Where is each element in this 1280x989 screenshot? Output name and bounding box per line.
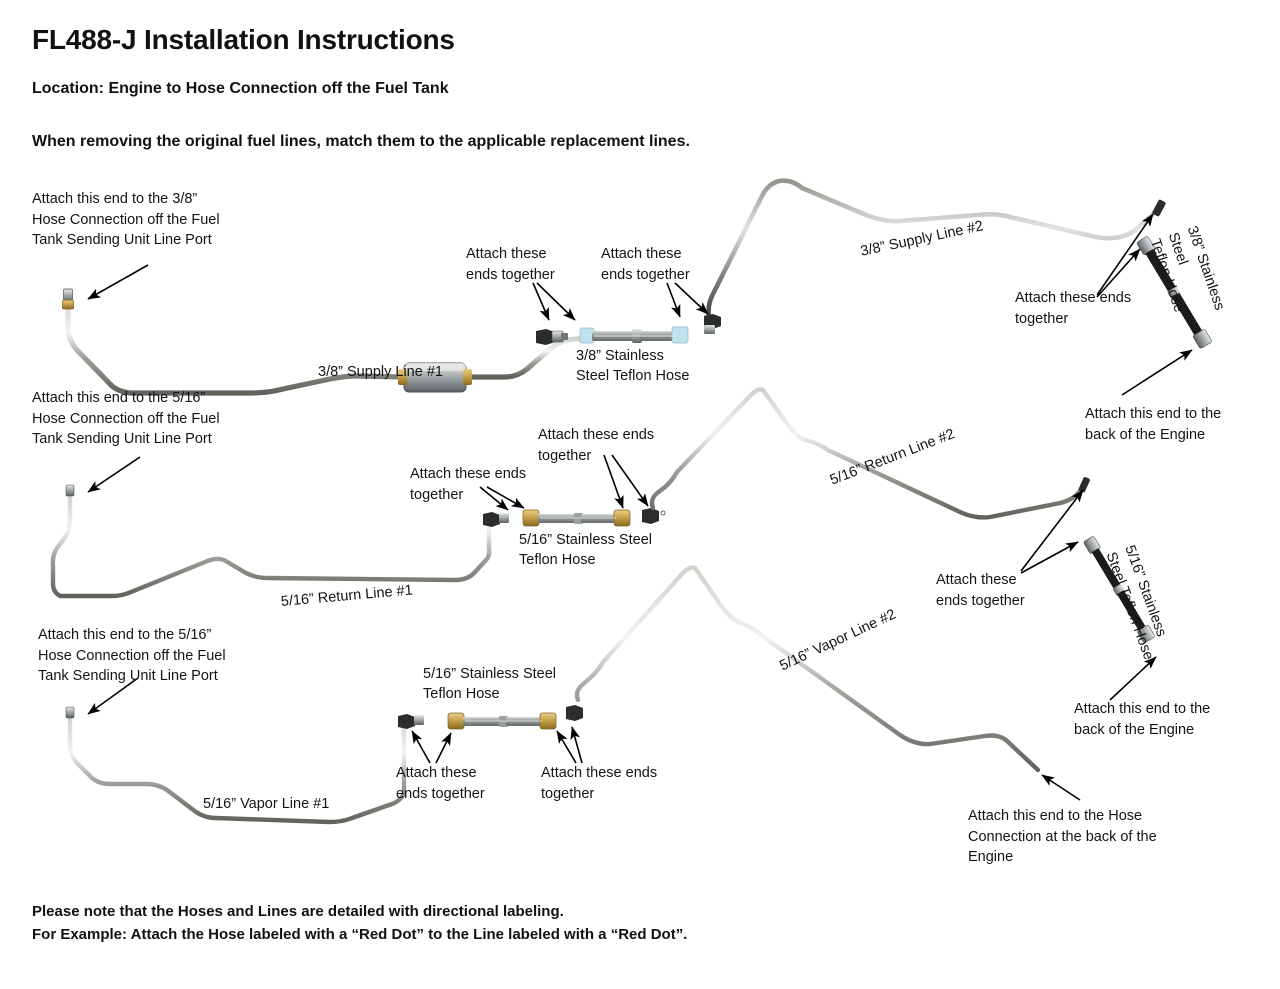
vapor-line-2-end-fitting xyxy=(566,705,583,721)
annotation-return-join-a: Attach these ends together xyxy=(410,464,526,505)
label-supply-line-1: 3/8” Supply Line #1 xyxy=(318,363,443,383)
annotation-vapor-engine-end: Attach this end to the Hose Connection a… xyxy=(968,806,1157,868)
label-return-hose-left: 5/16” Stainless Steel Teflon Hose xyxy=(519,531,652,570)
vapor-teflon-hose-left xyxy=(448,713,556,729)
return-teflon-hose-left xyxy=(523,510,630,526)
annotation-vapor-join-a: Attach these ends together xyxy=(396,763,485,804)
supply-line-2-hose-end xyxy=(1152,199,1167,217)
annotation-return-tank-end: Attach this end to the 5/16” Hose Connec… xyxy=(32,388,220,450)
annotation-supply-engine-end: Attach this end to the back of the Engin… xyxy=(1085,404,1221,445)
return-line-2-end-fitting xyxy=(642,508,665,524)
label-vapor-line-1: 5/16” Vapor Line #1 xyxy=(203,795,329,815)
return-line-2-tube xyxy=(652,390,1085,518)
annotation-return-join-b: Attach these ends together xyxy=(538,425,654,466)
annotation-return-join-right: Attach these ends together xyxy=(936,570,1025,611)
annotation-return-engine-end: Attach this end to the back of the Engin… xyxy=(1074,699,1210,740)
label-vapor-hose-left: 5/16” Stainless Steel Teflon Hose xyxy=(423,665,556,704)
supply-line-1-tank-fitting xyxy=(63,289,74,309)
footer-line-2: For Example: Attach the Hose labeled wit… xyxy=(32,923,687,946)
footer-note: Please note that the Hoses and Lines are… xyxy=(32,900,687,947)
annotation-supply-join-a: Attach these ends together xyxy=(466,244,555,285)
return-line-1-tube xyxy=(53,494,489,596)
annotation-supply-tank-end: Attach this end to the 3/8” Hose Connect… xyxy=(32,189,220,251)
annotation-vapor-tank-end: Attach this end to the 5/16” Hose Connec… xyxy=(38,625,226,687)
annotation-vapor-join-b: Attach these ends together xyxy=(541,763,657,804)
label-supply-hose-left: 3/8” Stainless Steel Teflon Hose xyxy=(576,347,689,386)
return-line-1-tank-fitting xyxy=(66,485,74,496)
annotation-supply-join-b: Attach these ends together xyxy=(601,244,690,285)
return-line-2-hose-end xyxy=(1078,476,1090,493)
vapor-line-1-tank-fitting xyxy=(66,707,74,718)
annotation-supply-join-right: Attach these ends together xyxy=(1015,288,1131,329)
supply-teflon-hose-left xyxy=(580,327,688,343)
vapor-line-1-end-fitting xyxy=(398,714,424,729)
supply-line-2-engine-fitting xyxy=(704,314,721,334)
return-line-1-end-fitting xyxy=(483,512,509,527)
footer-line-1: Please note that the Hoses and Lines are… xyxy=(32,900,687,923)
